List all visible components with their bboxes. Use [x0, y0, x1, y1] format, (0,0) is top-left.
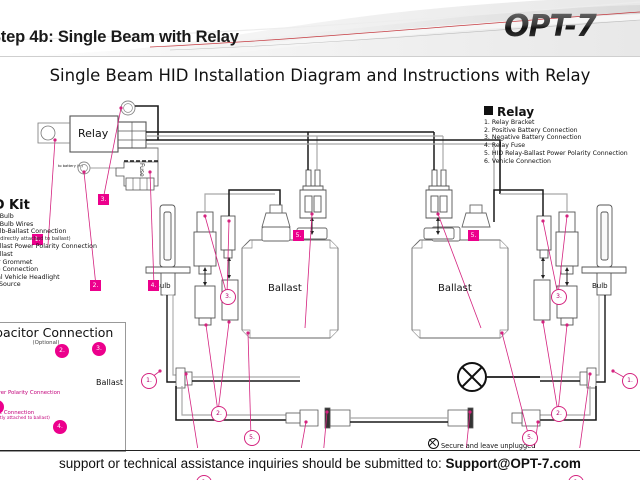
- step-title: Step 4b: Single Beam with Relay: [0, 28, 239, 47]
- hid-kit-item-3-note: (May be directly attached to ballast): [0, 236, 97, 244]
- badge-square-5-right[interactable]: 5.: [468, 230, 479, 241]
- capacitor-badge-2[interactable]: 2.: [55, 344, 69, 358]
- badge-circle-left-5[interactable]: 5.: [244, 430, 260, 446]
- relay-legend-title: Relay: [484, 105, 628, 119]
- badge-circle-right-6[interactable]: 6.: [568, 475, 584, 480]
- unplugged-note: Secure and leave unplugged: [428, 438, 535, 450]
- hid-kit-item-7: Vehicle Connection: [0, 266, 97, 274]
- hid-kit-legend-title: HID Kit: [0, 198, 97, 213]
- footer-email: Support@OPT-7.com: [446, 456, 581, 471]
- relay-legend-title-text: Relay: [497, 105, 534, 119]
- hid-kit-legend: HID Kit Xenon Bulb Xenon Bulb Wires HID …: [0, 198, 97, 289]
- capacitor-ballast-label: Ballast: [96, 378, 123, 387]
- x-circle-icon: [428, 438, 439, 449]
- badge-circle-left-3[interactable]: 3.: [220, 289, 236, 305]
- header-divider: [0, 56, 640, 57]
- slide-page: Step 4b: Single Beam with Relay OPT-7 Si…: [0, 0, 640, 480]
- badge-square-4[interactable]: 4.: [148, 280, 159, 291]
- badge-circle-right-1[interactable]: 1.: [622, 373, 638, 389]
- opt7-logo-text: OPT-7: [504, 9, 640, 44]
- relay-legend-item-4: 4. Relay Fuse: [484, 142, 628, 150]
- footer-text-before: support or technical assistance inquirie…: [59, 456, 445, 471]
- badge-circle-right-5[interactable]: 5.: [522, 430, 538, 446]
- relay-legend-item-5: 5. HID Relay-Ballast Power Polarity Conn…: [484, 150, 628, 158]
- capacitor-badge-3[interactable]: 3.: [92, 342, 106, 356]
- badge-circle-right-2[interactable]: 2.: [551, 406, 567, 422]
- hid-kit-item-6: Rubber Grommet: [0, 259, 97, 267]
- badge-circle-right-3[interactable]: 3.: [551, 289, 567, 305]
- relay-legend-item-3: 3. Negative Battery Connection: [484, 134, 628, 142]
- relay-legend: Relay 1. Relay Bracket 2. Positive Batte…: [484, 105, 628, 165]
- hid-kit-item-2: Xenon Bulb Wires: [0, 221, 97, 229]
- badge-circle-left-1[interactable]: 1.: [141, 373, 157, 389]
- relay-box-label: Relay: [78, 127, 108, 140]
- capacitor-legend-item-2: Capacitor: [0, 397, 60, 404]
- capacitor-legend-item-1: Ballast Power Polarity Connection: [0, 390, 60, 397]
- badge-square-3[interactable]: 3.: [98, 194, 109, 205]
- capacitor-legend-item-4-note: (May be directly attached to ballast): [0, 416, 60, 423]
- capacitor-legend: Ballast Power Polarity Connection Capaci…: [0, 390, 60, 423]
- bulb-right-label: Bulb: [592, 282, 608, 290]
- opt7-logo: OPT-7: [504, 9, 640, 45]
- hid-kit-item-1: Xenon Bulb: [0, 213, 97, 221]
- badge-circle-left-6[interactable]: 6.: [196, 475, 212, 480]
- capacitor-legend-item-3: Ballast: [0, 403, 60, 410]
- slide-header: Step 4b: Single Beam with Relay OPT-7: [0, 0, 640, 57]
- hid-kit-item-5: HID Ballast: [0, 251, 97, 259]
- hid-kit-item-9: Power Source: [0, 281, 97, 289]
- hid-kit-item-3: HID Bulb-Ballast Connection: [0, 228, 97, 236]
- unplugged-note-text: Secure and leave unplugged: [441, 442, 535, 450]
- footer-support-text: support or technical assistance inquirie…: [0, 456, 640, 471]
- black-square-icon: [484, 106, 493, 115]
- relay-legend-item-6: 6. Vehicle Connection: [484, 158, 628, 166]
- badge-circle-left-2[interactable]: 2.: [211, 406, 227, 422]
- footer-divider: [0, 450, 640, 451]
- ballast-left-label: Ballast: [268, 283, 302, 294]
- hid-kit-item-8: Original Vehicle Headlight: [0, 274, 97, 282]
- page-title: Single Beam HID Installation Diagram and…: [0, 66, 640, 85]
- battery-terminal-label: to battery (+): [58, 164, 83, 168]
- capacitor-box-title: Capacitor Connection: [0, 325, 126, 340]
- relay-legend-item-2: 2. Positive Battery Connection: [484, 127, 628, 135]
- relay-legend-item-1: 1. Relay Bracket: [484, 119, 628, 127]
- badge-square-5-left[interactable]: 5.: [293, 230, 304, 241]
- fuse-label: Fuse: [138, 163, 145, 177]
- hid-kit-item-4: HID Ballast Power Polarity Connection: [0, 243, 97, 251]
- capacitor-badge-4[interactable]: 4.: [53, 420, 67, 434]
- ballast-right-label: Ballast: [438, 283, 472, 294]
